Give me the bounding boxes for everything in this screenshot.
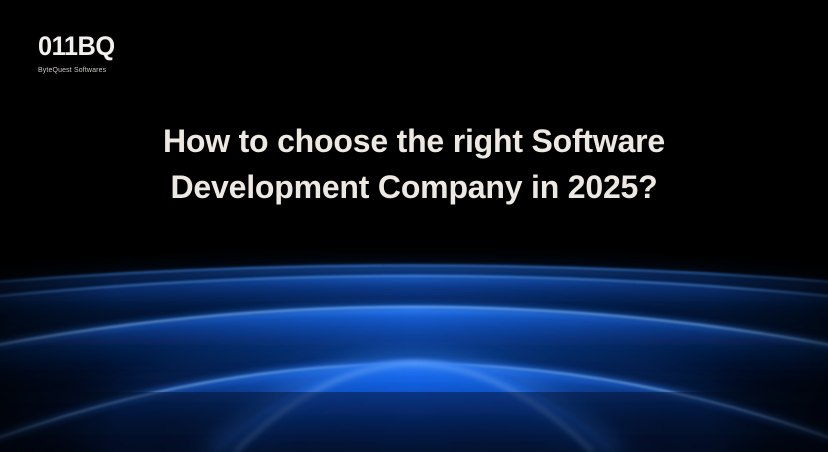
light-arcs-artwork — [0, 0, 828, 452]
headline-line-2: Development Company in 2025? — [80, 164, 748, 210]
logo-tagline: ByteQuest Softwares — [38, 66, 117, 73]
brand-logo[interactable]: 011BQ ByteQuest Softwares — [38, 33, 120, 73]
hero-banner: 011BQ ByteQuest Softwares How to choose … — [0, 0, 828, 452]
headline-line-1: How to choose the right Software — [80, 118, 748, 164]
page-title: How to choose the right Software Develop… — [0, 118, 828, 210]
logo-wordmark: 011BQ — [38, 33, 115, 60]
